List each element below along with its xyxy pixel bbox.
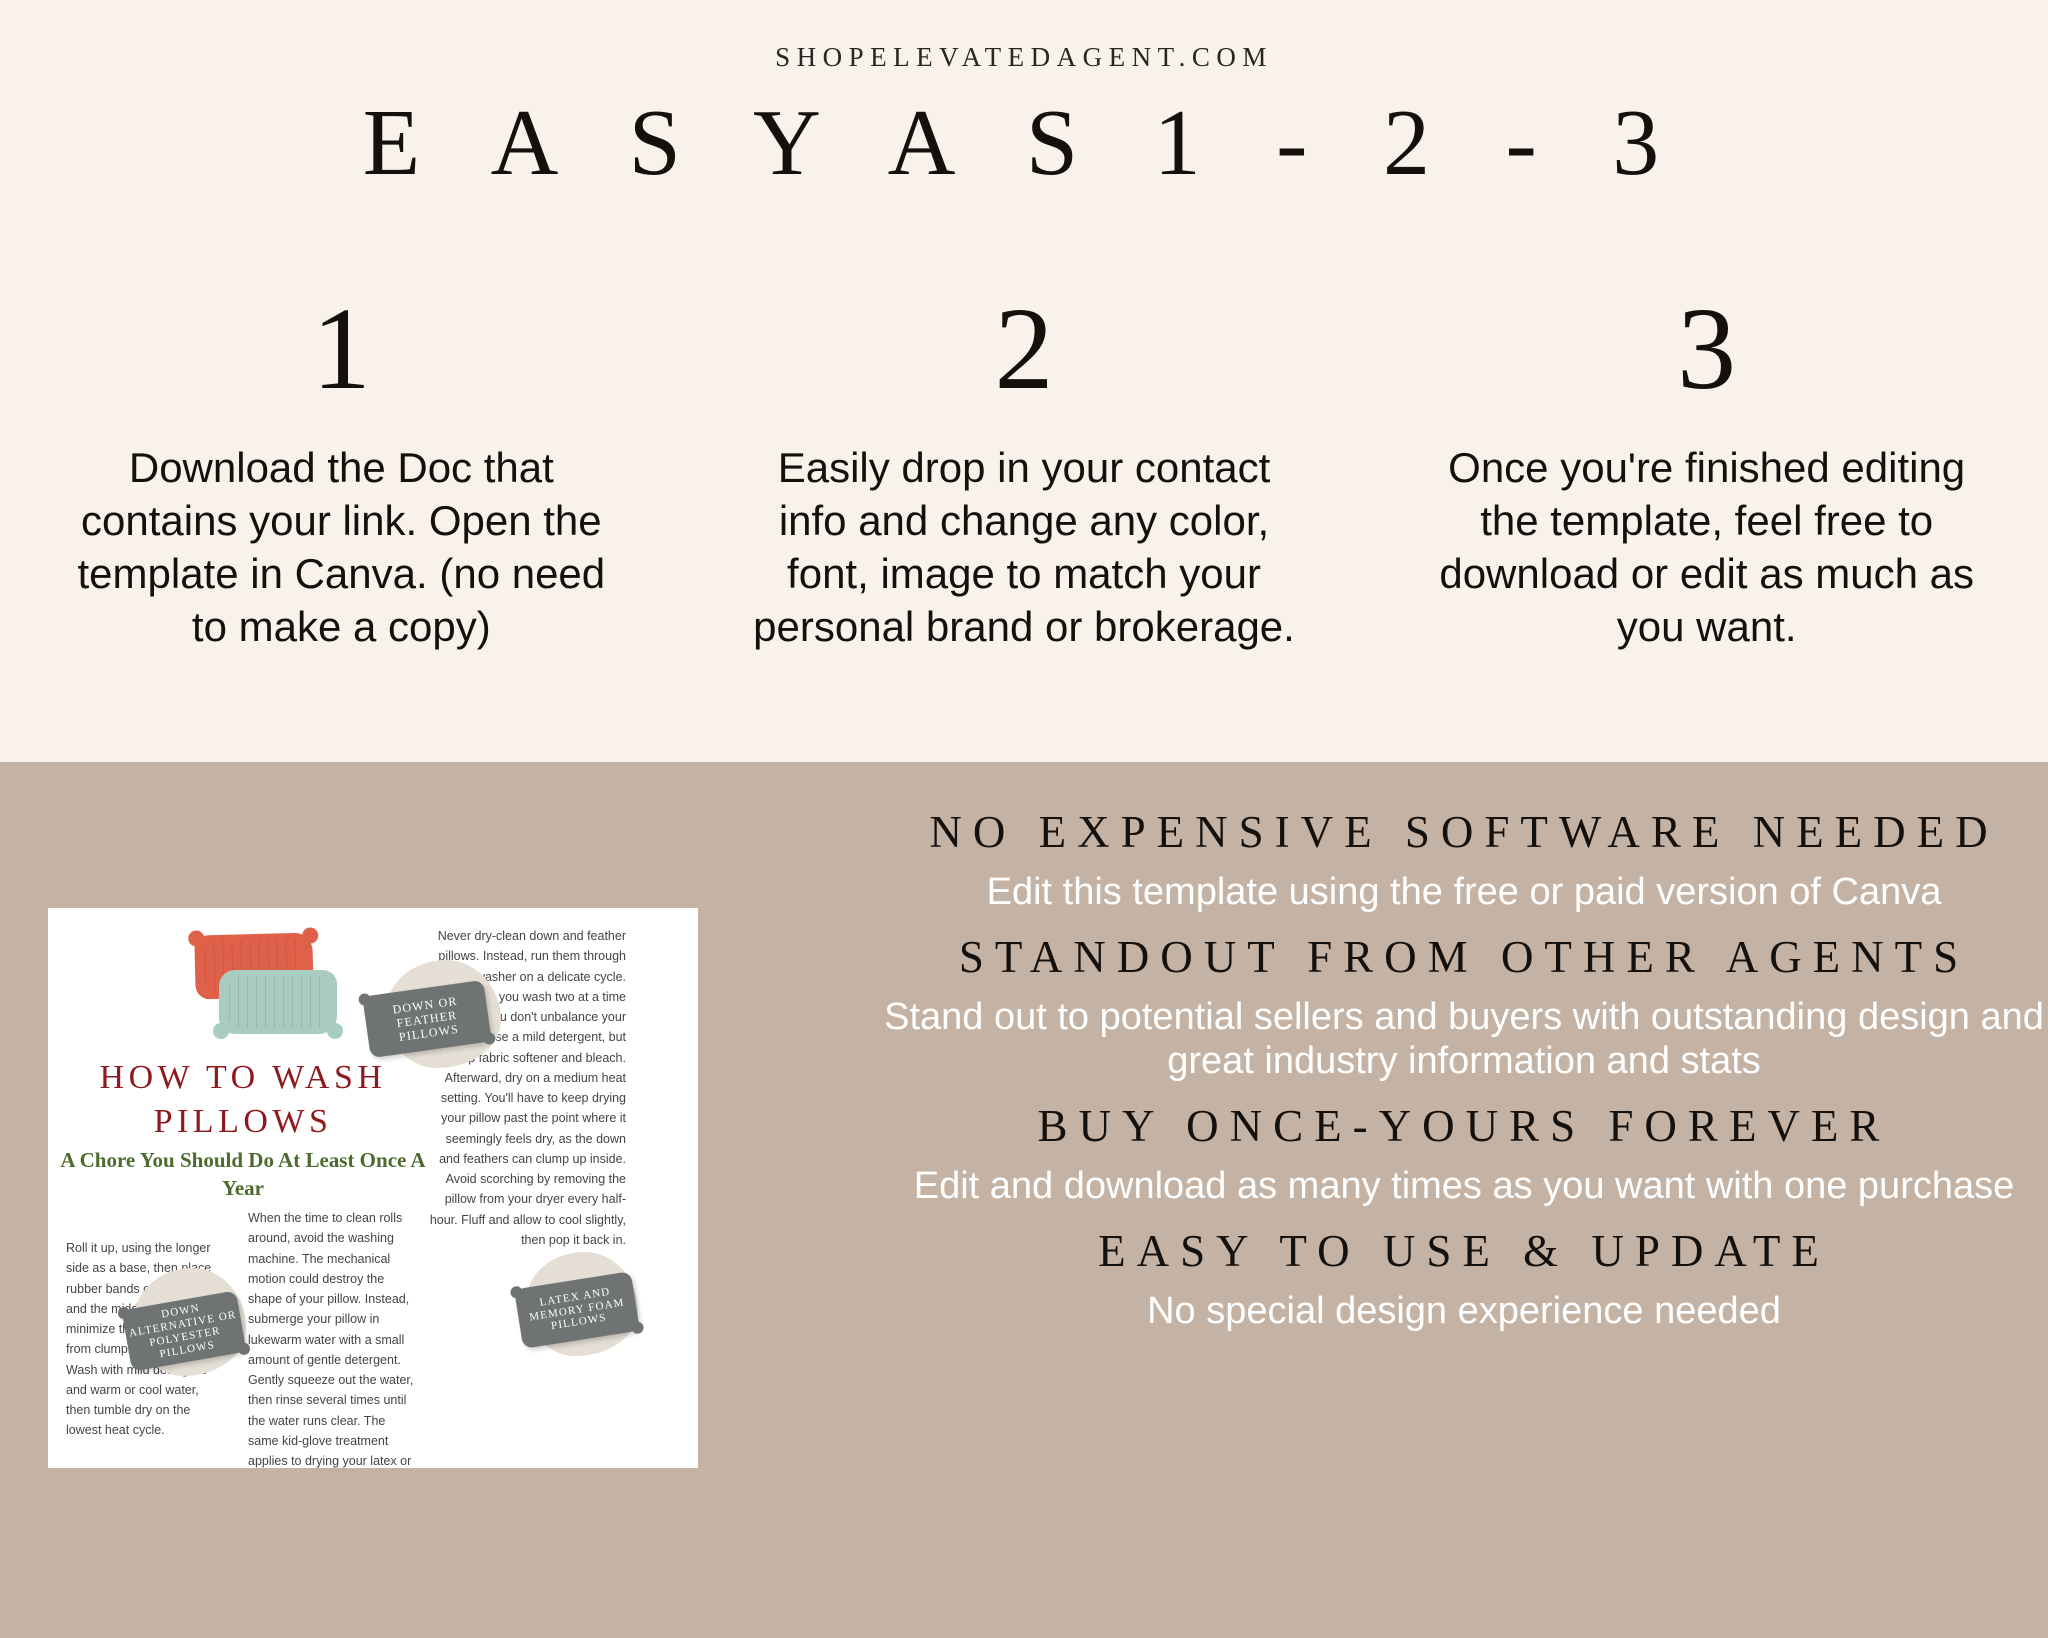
- step-description: Once you're finished editing the templat…: [1427, 442, 1987, 654]
- top-cream-section: SHOPELEVATEDAGENT.COM E A S Y A S 1 - 2 …: [0, 0, 2048, 762]
- sage-pillow-icon: [219, 970, 337, 1034]
- benefit-heading: NO EXPENSIVE SOFTWARE NEEDED: [880, 805, 2048, 860]
- benefit-item: STANDOUT FROM OTHER AGENTS Stand out to …: [880, 930, 2048, 1099]
- step-number: 3: [1677, 290, 1736, 408]
- site-url: SHOPELEVATEDAGENT.COM: [0, 42, 2048, 73]
- benefit-heading: STANDOUT FROM OTHER AGENTS: [880, 930, 2048, 985]
- benefit-item: NO EXPENSIVE SOFTWARE NEEDED Edit this t…: [880, 805, 2048, 930]
- step-number: 2: [995, 290, 1054, 408]
- pillow-stripes: [229, 976, 327, 1028]
- step-1: 1 Download the Doc that contains your li…: [0, 290, 683, 654]
- card-subtitle: A Chore You Should Do At Least Once A Ye…: [48, 1146, 438, 1203]
- page-title: E A S Y A S 1 - 2 - 3: [0, 92, 2048, 195]
- step-description: Easily drop in your contact info and cha…: [744, 442, 1304, 654]
- step-number: 1: [312, 290, 371, 408]
- promo-graphic: SHOPELEVATEDAGENT.COM E A S Y A S 1 - 2 …: [0, 0, 2048, 1638]
- card-inner: HOW TO WASH PILLOWS A Chore You Should D…: [48, 908, 698, 1468]
- benefit-item: EASY TO USE & UPDATE No special design e…: [880, 1224, 2048, 1349]
- step-3: 3 Once you're finished editing the templ…: [1365, 290, 2048, 654]
- benefit-item: BUY ONCE-YOURS FOREVER Edit and download…: [880, 1099, 2048, 1224]
- benefits-list: NO EXPENSIVE SOFTWARE NEEDED Edit this t…: [880, 805, 2048, 1349]
- benefit-body: Edit this template using the free or pai…: [880, 870, 2048, 914]
- step-description: Download the Doc that contains your link…: [61, 442, 621, 654]
- step-2: 2 Easily drop in your contact info and c…: [683, 290, 1366, 654]
- template-preview-card[interactable]: HOW TO WASH PILLOWS A Chore You Should D…: [48, 908, 698, 1468]
- steps-row: 1 Download the Doc that contains your li…: [0, 290, 2048, 654]
- pillows-illustration: [173, 930, 343, 1050]
- benefit-body: Edit and download as many times as you w…: [880, 1164, 2048, 1208]
- card-title: HOW TO WASH PILLOWS: [48, 1056, 438, 1144]
- benefit-heading: BUY ONCE-YOURS FOREVER: [880, 1099, 2048, 1154]
- card-column-middle: When the time to clean rolls around, avo…: [248, 1208, 414, 1468]
- benefit-body: Stand out to potential sellers and buyer…: [880, 995, 2048, 1083]
- benefit-heading: EASY TO USE & UPDATE: [880, 1224, 2048, 1279]
- benefit-body: No special design experience needed: [880, 1289, 2048, 1333]
